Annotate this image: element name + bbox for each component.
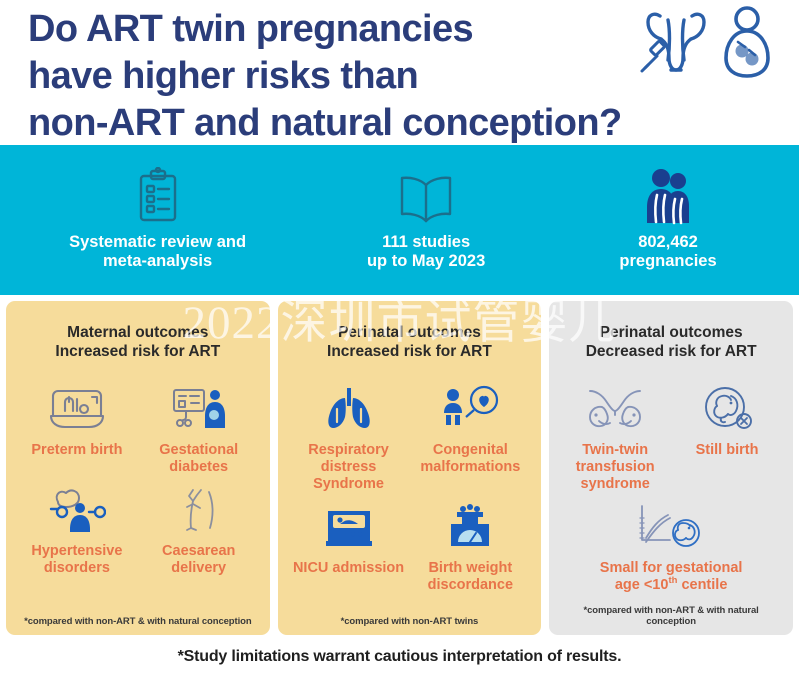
outcome-gestational-diabetes: Gestational diabetes	[138, 381, 260, 476]
stat-label: 111 studies up to May 2023	[367, 233, 485, 271]
card-maternal-increased: Maternal outcomes Increased risk for ART…	[6, 301, 270, 635]
outcome-label: Small for gestational age <10th centile	[600, 560, 743, 594]
outcome-label: Respiratory distress Syndrome	[288, 442, 410, 493]
outcome-respiratory-distress-syndrome: Respiratory distress Syndrome	[288, 381, 410, 493]
card-footnote: *compared with non-ART & with natural co…	[559, 605, 783, 635]
outcome-label: Caesarean delivery	[162, 543, 235, 577]
page-title: Do ART twin pregnancies have higher risk…	[28, 4, 628, 147]
card-title: Perinatal outcomes Increased risk for AR…	[288, 323, 532, 361]
baby-heart-magnifier-icon	[439, 381, 501, 435]
nicu-incubator-icon	[320, 499, 378, 553]
blood-pressure-pregnant-icon	[48, 482, 106, 536]
clipboard-checklist-icon	[136, 163, 180, 225]
pregnant-twins-icon	[721, 6, 773, 85]
outcome-nicu-admission: NICU admission	[288, 499, 410, 594]
outcome-congenital-malformations: Congenital malformations	[409, 381, 531, 493]
lungs-icon	[321, 381, 377, 435]
outcome-cards: Maternal outcomes Increased risk for ART…	[0, 295, 799, 635]
stat-studies-count: 111 studies up to May 2023	[305, 163, 547, 271]
card-title: Perinatal outcomes Decreased risk for AR…	[559, 323, 783, 361]
glucose-monitor-pregnant-icon	[170, 381, 228, 435]
outcome-small-for-gestational-age: Small for gestational age <10th centile	[559, 499, 783, 594]
study-limitations-note: *Study limitations warrant cautious inte…	[0, 635, 799, 666]
stat-pregnancies-count: 802,462 pregnancies	[547, 163, 789, 271]
outcome-label: Preterm birth	[31, 442, 122, 459]
outcome-hypertensive-disorders: Hypertensive disorders	[16, 482, 138, 577]
card-perinatal-decreased: Perinatal outcomes Decreased risk for AR…	[549, 301, 793, 635]
fetus-cross-icon	[699, 381, 755, 435]
outcome-label: Birth weight discordance	[428, 560, 513, 594]
outcome-label: NICU admission	[293, 560, 404, 577]
two-people-icon	[644, 163, 692, 225]
outcome-grid: Respiratory distress Syndrome	[288, 365, 532, 616]
stat-systematic-review: Systematic review and meta-analysis	[10, 163, 305, 271]
header: Do ART twin pregnancies have higher risk…	[0, 0, 799, 145]
outcome-label: Twin-twin transfusion syndrome	[576, 442, 655, 493]
uterus-syringe-icon	[637, 6, 715, 85]
card-footnote: *compared with non-ART & with natural co…	[16, 616, 260, 635]
header-icon-group	[637, 6, 773, 85]
stat-label: Systematic review and meta-analysis	[69, 233, 246, 271]
outcome-label: Gestational diabetes	[159, 442, 238, 476]
stat-label: 802,462 pregnancies	[619, 233, 716, 271]
outcome-birth-weight-discordance: Birth weight discordance	[409, 499, 531, 594]
twin-fetuses-shared-placenta-icon	[582, 381, 648, 435]
incubator-icon	[48, 381, 106, 435]
caesarean-scar-icon	[175, 482, 223, 536]
outcome-preterm-birth: Preterm birth	[16, 381, 138, 476]
baby-weight-scale-icon	[443, 499, 497, 553]
card-title: Maternal outcomes Increased risk for ART	[16, 323, 260, 361]
outcome-label: Congenital malformations	[420, 442, 520, 476]
open-book-icon	[398, 163, 454, 225]
outcome-still-birth: Still birth	[671, 381, 783, 493]
card-footnote: *compared with non-ART twins	[288, 616, 532, 635]
outcome-grid: Preterm birth	[16, 365, 260, 616]
outcome-label: Still birth	[696, 442, 759, 459]
outcome-caesarean-delivery: Caesarean delivery	[138, 482, 260, 577]
outcome-twin-twin-transfusion-syndrome: Twin-twin transfusion syndrome	[559, 381, 671, 493]
outcome-grid: Twin-twin transfusion syndrome St	[559, 365, 783, 605]
outcome-label: Hypertensive disorders	[31, 543, 122, 577]
growth-chart-fetus-icon	[632, 499, 710, 553]
stats-banner: Systematic review and meta-analysis 111 …	[0, 145, 799, 295]
sga-label-tail: centile	[677, 577, 727, 593]
card-perinatal-increased: Perinatal outcomes Increased risk for AR…	[278, 301, 542, 635]
